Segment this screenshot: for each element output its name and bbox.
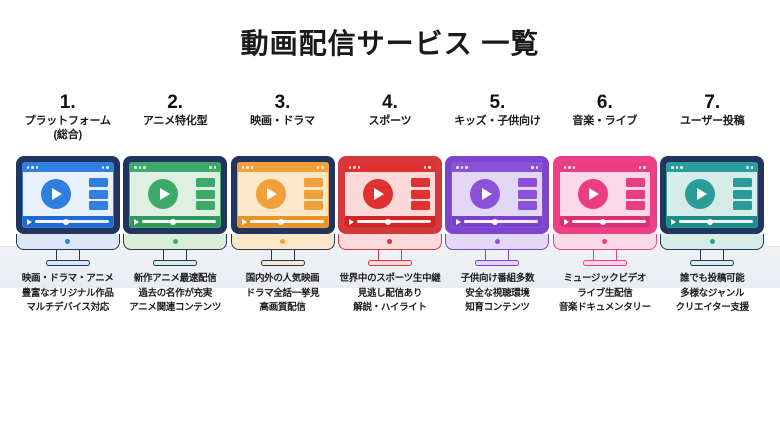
progress-bar-icon[interactable] [250, 220, 324, 223]
service-category-columns: 1.プラットフォーム (総合)映画・ドラマ・アニメ豊富なオリジナル作品マルチデバ… [14, 92, 766, 367]
small-play-icon[interactable] [242, 219, 247, 225]
window-titlebar [667, 163, 757, 172]
infographic-page: 動画配信サービス 一覧 1.プラットフォーム (総合)映画・ドラマ・アニメ豊富な… [0, 0, 780, 425]
feature-item: 過去の名作が充実 [129, 287, 221, 302]
video-player-area [23, 172, 113, 216]
progress-bar-icon[interactable] [464, 220, 538, 223]
progress-bar-icon[interactable] [679, 220, 753, 223]
progress-bar-icon[interactable] [142, 220, 216, 223]
player-controls[interactable] [238, 216, 328, 227]
window-controls-icon [531, 166, 538, 169]
feature-list: 子供向け番組多数安全な視聴環境知育コンテンツ [461, 272, 535, 316]
feature-item: 新作アニメ最速配信 [129, 272, 221, 287]
category-column: 4.スポーツ世界中のスポーツ生中継見逃し配信あり解説・ハイライト [336, 92, 443, 367]
video-player-area [238, 172, 328, 216]
monitor-foot [368, 260, 412, 266]
monitor-screen[interactable] [22, 162, 114, 228]
monitor-illustration[interactable] [553, 156, 657, 256]
player-controls[interactable] [345, 216, 435, 227]
window-titlebar [560, 163, 650, 172]
category-column: 6.音楽・ライブミュージックビデオライブ生配信音楽ドキュメンタリー [551, 92, 658, 367]
play-icon [41, 179, 71, 209]
window-dots-icon [671, 166, 683, 169]
player-controls[interactable] [130, 216, 220, 227]
player-controls[interactable] [452, 216, 542, 227]
monitor-screen[interactable] [451, 162, 543, 228]
feature-item: 高画質配信 [246, 301, 320, 316]
monitor-illustration[interactable] [660, 156, 764, 256]
feature-item: 知育コンテンツ [461, 301, 535, 316]
monitor-bezel [660, 156, 764, 234]
window-titlebar [23, 163, 113, 172]
window-dots-icon [27, 166, 39, 169]
monitor-illustration[interactable] [231, 156, 335, 256]
monitor-chin [123, 234, 227, 250]
window-titlebar [452, 163, 542, 172]
column-number: 2. [143, 92, 208, 114]
page-title: 動画配信サービス 一覧 [0, 22, 780, 62]
feature-item: 豊富なオリジナル作品 [22, 287, 114, 302]
column-label: スポーツ [368, 114, 411, 128]
feature-item: 世界中のスポーツ生中継 [339, 272, 440, 287]
column-header: 7.ユーザー投稿 [680, 92, 745, 154]
monitor-foot [690, 260, 734, 266]
column-label: アニメ特化型 [143, 114, 208, 128]
monitor-bezel [231, 156, 335, 234]
monitor-foot [153, 260, 197, 266]
column-header: 1.プラットフォーム (総合) [25, 92, 111, 154]
column-label: 音楽・ライブ [572, 114, 637, 128]
playlist-tiles[interactable] [733, 178, 752, 210]
monitor-chin [660, 234, 764, 250]
small-play-icon[interactable] [134, 219, 139, 225]
window-titlebar [130, 163, 220, 172]
column-header: 2.アニメ特化型 [143, 92, 208, 154]
monitor-screen[interactable] [666, 162, 758, 228]
monitor-bezel [445, 156, 549, 234]
video-player-area [667, 172, 757, 216]
feature-item: 国内外の人気映画 [246, 272, 320, 287]
play-button[interactable] [452, 179, 518, 209]
column-header: 5.キッズ・子供向け [454, 92, 540, 154]
column-header: 4.スポーツ [368, 92, 411, 154]
monitor-chin [445, 234, 549, 250]
feature-item: クリエイター支援 [676, 301, 749, 316]
column-label: ユーザー投稿 [680, 114, 745, 128]
feature-list: 国内外の人気映画ドラマ全話一挙見高画質配信 [246, 272, 320, 316]
play-icon [363, 179, 393, 209]
video-player-area [452, 172, 542, 216]
monitor-bezel [338, 156, 442, 234]
video-player-area [130, 172, 220, 216]
playlist-tiles[interactable] [89, 178, 108, 210]
monitor-bezel [123, 156, 227, 234]
player-controls[interactable] [667, 216, 757, 227]
playlist-tiles[interactable] [626, 178, 645, 210]
window-controls-icon [102, 166, 109, 169]
playlist-tiles[interactable] [411, 178, 430, 210]
monitor-screen[interactable] [129, 162, 221, 228]
monitor-bezel [553, 156, 657, 234]
player-controls[interactable] [23, 216, 113, 227]
feature-list: 誰でも投稿可能多様なジャンルクリエイター支援 [676, 272, 749, 316]
column-number: 5. [454, 92, 540, 114]
play-icon [148, 179, 178, 209]
play-button[interactable] [23, 179, 89, 209]
playlist-tiles[interactable] [304, 178, 323, 210]
feature-item: 映画・ドラマ・アニメ [22, 272, 114, 287]
window-dots-icon [456, 166, 468, 169]
column-label: キッズ・子供向け [454, 114, 540, 128]
play-button[interactable] [238, 179, 304, 209]
monitor-bezel [16, 156, 120, 234]
monitor-foot [261, 260, 305, 266]
playlist-tiles[interactable] [196, 178, 215, 210]
column-number: 1. [25, 92, 111, 114]
category-column: 2.アニメ特化型新作アニメ最速配信過去の名作が充実アニメ関連コンテンツ [121, 92, 228, 367]
category-column: 1.プラットフォーム (総合)映画・ドラマ・アニメ豊富なオリジナル作品マルチデバ… [14, 92, 121, 367]
play-icon [578, 179, 608, 209]
monitor-screen[interactable] [237, 162, 329, 228]
column-header: 3.映画・ドラマ [250, 92, 315, 154]
progress-bar-icon[interactable] [35, 220, 109, 223]
window-dots-icon [349, 166, 361, 169]
monitor-chin [231, 234, 335, 250]
monitor-chin [553, 234, 657, 250]
small-play-icon[interactable] [27, 219, 32, 225]
column-label: 映画・ドラマ [250, 114, 315, 128]
monitor-screen[interactable] [344, 162, 436, 228]
playlist-tiles[interactable] [518, 178, 537, 210]
monitor-foot [583, 260, 627, 266]
column-header: 6.音楽・ライブ [572, 92, 637, 154]
feature-item: アニメ関連コンテンツ [129, 301, 221, 316]
window-controls-icon [746, 166, 753, 169]
feature-item: ドラマ全話一挙見 [246, 287, 320, 302]
video-player-area [345, 172, 435, 216]
play-button[interactable] [560, 179, 626, 209]
column-label: プラットフォーム (総合) [25, 114, 111, 142]
window-controls-icon [639, 166, 646, 169]
feature-list: 映画・ドラマ・アニメ豊富なオリジナル作品マルチデバイス対応 [22, 272, 114, 316]
feature-item: 安全な視聴環境 [461, 287, 535, 302]
feature-item: ミュージックビデオ [559, 272, 651, 287]
play-icon [470, 179, 500, 209]
progress-bar-icon[interactable] [572, 220, 646, 223]
feature-item: 多様なジャンル [676, 287, 749, 302]
column-number: 4. [368, 92, 411, 114]
play-icon [685, 179, 715, 209]
feature-list: 新作アニメ最速配信過去の名作が充実アニメ関連コンテンツ [129, 272, 221, 316]
feature-item: ライブ生配信 [559, 287, 651, 302]
category-column: 5.キッズ・子供向け子供向け番組多数安全な視聴環境知育コンテンツ [444, 92, 551, 367]
monitor-screen[interactable] [559, 162, 651, 228]
category-column: 3.映画・ドラマ国内外の人気映画ドラマ全話一挙見高画質配信 [229, 92, 336, 367]
video-player-area [560, 172, 650, 216]
window-dots-icon [134, 166, 146, 169]
column-number: 3. [250, 92, 315, 114]
feature-item: 見逃し配信あり [339, 287, 440, 302]
monitor-chin [338, 234, 442, 250]
window-controls-icon [317, 166, 324, 169]
play-button[interactable] [130, 179, 196, 209]
feature-item: 誰でも投稿可能 [676, 272, 749, 287]
player-controls[interactable] [560, 216, 650, 227]
column-number: 6. [572, 92, 637, 114]
monitor-illustration[interactable] [16, 156, 120, 256]
feature-list: ミュージックビデオライブ生配信音楽ドキュメンタリー [559, 272, 651, 316]
category-column: 7.ユーザー投稿誰でも投稿可能多様なジャンルクリエイター支援 [659, 92, 766, 367]
small-play-icon[interactable] [456, 219, 461, 225]
play-button[interactable] [667, 179, 733, 209]
monitor-foot [475, 260, 519, 266]
window-controls-icon [209, 166, 216, 169]
window-titlebar [238, 163, 328, 172]
column-number: 7. [680, 92, 745, 114]
monitor-chin [16, 234, 120, 250]
play-button[interactable] [345, 179, 411, 209]
feature-item: 子供向け番組多数 [461, 272, 535, 287]
small-play-icon[interactable] [564, 219, 569, 225]
monitor-foot [46, 260, 90, 266]
monitor-illustration[interactable] [123, 156, 227, 256]
small-play-icon[interactable] [349, 219, 354, 225]
monitor-illustration[interactable] [338, 156, 442, 256]
progress-bar-icon[interactable] [357, 220, 431, 223]
small-play-icon[interactable] [671, 219, 676, 225]
feature-item: マルチデバイス対応 [22, 301, 114, 316]
feature-list: 世界中のスポーツ生中継見逃し配信あり解説・ハイライト [339, 272, 440, 316]
window-dots-icon [242, 166, 254, 169]
play-icon [256, 179, 286, 209]
window-dots-icon [564, 166, 576, 169]
window-controls-icon [424, 166, 431, 169]
monitor-illustration[interactable] [445, 156, 549, 256]
window-titlebar [345, 163, 435, 172]
feature-item: 解説・ハイライト [339, 301, 440, 316]
feature-item: 音楽ドキュメンタリー [559, 301, 651, 316]
